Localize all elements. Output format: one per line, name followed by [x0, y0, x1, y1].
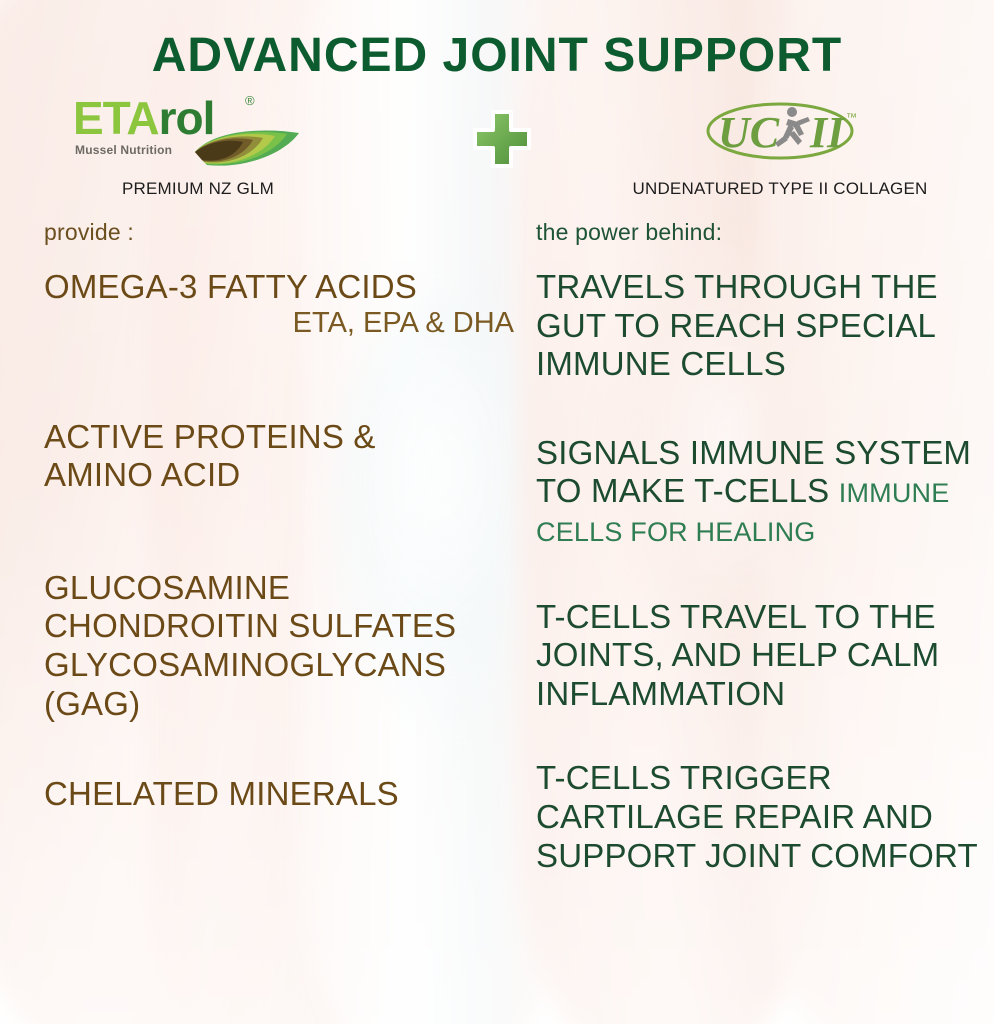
etarol-logo-block: ETArol ® Mussel Nutrition PREMIUM NZ GLM	[58, 95, 338, 199]
right-item-3-line-2: JOINTS, AND HELP CALM	[536, 636, 994, 675]
right-item-1-line-2: GUT TO REACH SPECIAL	[536, 307, 994, 346]
left-item-2-line-1: ACTIVE PROTEINS &	[44, 418, 514, 457]
etarol-tagline: Mussel Nutrition	[75, 143, 172, 157]
right-item-3: T-CELLS TRAVEL TO THE JOINTS, AND HELP C…	[536, 598, 994, 714]
registered-trademark-icon: ®	[245, 93, 255, 108]
right-item-2-line-2: TO MAKE T-CELLS IMMUNE CELLS FOR HEALING	[536, 472, 994, 549]
ucii-text-uc: UC	[718, 108, 780, 157]
right-item-2: SIGNALS IMMUNE SYSTEM TO MAKE T-CELLS IM…	[536, 434, 994, 550]
green-plus-icon	[470, 107, 534, 171]
etarol-wordmark-part1: ETA	[73, 92, 159, 144]
trademark-icon: ™	[846, 112, 857, 124]
left-item-2-line-2: AMINO ACID	[44, 456, 514, 495]
right-item-1-line-3: IMMUNE CELLS	[536, 345, 994, 384]
right-item-1: TRAVELS THROUGH THE GUT TO REACH SPECIAL…	[536, 268, 994, 384]
left-item-3-line-3: GLYCOSAMINOGLYCANS	[44, 646, 514, 685]
mussel-shell-icon	[191, 125, 315, 174]
etarol-logo: ETArol ® Mussel Nutrition	[73, 95, 323, 173]
ucii-text-ii: II	[809, 108, 846, 157]
left-item-3-line-4: (GAG)	[44, 685, 514, 724]
plus-connector	[470, 107, 534, 176]
left-item-1-line-1: OMEGA-3 FATTY ACIDS	[44, 268, 514, 307]
page-title: ADVANCED JOINT SUPPORT	[0, 0, 994, 83]
right-item-4-line-2: CARTILAGE REPAIR AND	[536, 798, 994, 837]
right-item-2-line-1: SIGNALS IMMUNE SYSTEM	[536, 434, 994, 473]
logo-strip: ETArol ® Mussel Nutrition PREMIUM NZ GLM	[0, 93, 994, 219]
left-column: provide : OMEGA-3 FATTY ACIDS ETA, EPA &…	[44, 219, 514, 814]
left-item-1: OMEGA-3 FATTY ACIDS ETA, EPA & DHA	[44, 268, 514, 340]
right-column: the power behind: TRAVELS THROUGH THE GU…	[536, 219, 994, 875]
right-item-3-line-3: INFLAMMATION	[536, 675, 994, 714]
running-person-icon	[775, 107, 810, 147]
right-item-1-line-1: TRAVELS THROUGH THE	[536, 268, 994, 307]
left-item-3-line-1: GLUCOSAMINE	[44, 569, 514, 608]
ucii-caption: UNDENATURED TYPE II COLLAGEN	[580, 179, 980, 199]
etarol-caption: PREMIUM NZ GLM	[58, 179, 338, 199]
right-item-4: T-CELLS TRIGGER CARTILAGE REPAIR AND SUP…	[536, 759, 994, 875]
right-item-2-line-2-main: TO MAKE T-CELLS	[536, 472, 829, 509]
right-item-4-line-3: SUPPORT JOINT COMFORT	[536, 837, 994, 876]
left-item-4-line-1: CHELATED MINERALS	[44, 775, 514, 814]
right-item-4-line-1: T-CELLS TRIGGER	[536, 759, 994, 798]
ucii-logo-block: UC II ™ UNDENATURED TYPE II COLLAGEN	[580, 95, 980, 199]
right-lead-label: the power behind:	[536, 219, 994, 246]
ucii-logo: UC II ™	[665, 95, 895, 173]
left-item-2: ACTIVE PROTEINS & AMINO ACID	[44, 418, 514, 495]
right-item-3-line-1: T-CELLS TRAVEL TO THE	[536, 598, 994, 637]
left-item-1-sub: ETA, EPA & DHA	[44, 307, 514, 340]
left-item-3: GLUCOSAMINE CHONDROITIN SULFATES GLYCOSA…	[44, 569, 514, 723]
left-item-3-line-2: CHONDROITIN SULFATES	[44, 607, 514, 646]
left-lead-label: provide :	[44, 219, 514, 246]
left-item-4: CHELATED MINERALS	[44, 775, 514, 814]
